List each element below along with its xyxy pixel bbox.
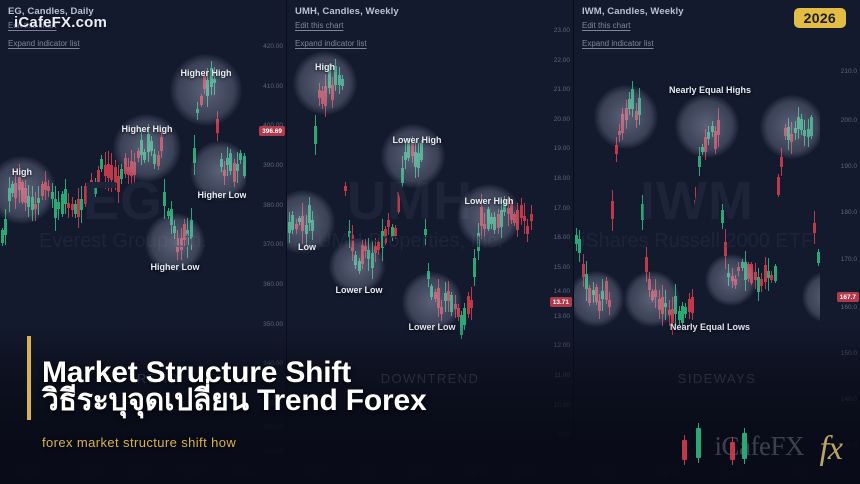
price-tick: 16.00 [554, 234, 570, 241]
candle [774, 264, 777, 284]
price-tick: 21.00 [554, 86, 570, 93]
candle [611, 190, 614, 231]
time-tick: 13, Nov [232, 470, 254, 477]
logo-candle-red [682, 440, 687, 460]
logo-fx-mark: fx [819, 430, 842, 468]
screenshot-root: EG, Candles, Daily Edit this chart Expan… [0, 0, 860, 484]
plot-area[interactable]: IWM iShares Russell 2000 ETF Nearly Equa… [574, 0, 820, 466]
time-tick: Mar '25 [466, 470, 487, 477]
price-tick: 410.00 [263, 83, 283, 90]
watermark-name: iShares Russell 2000 ETF [581, 230, 813, 253]
expand-indicator-list-link[interactable]: Expand indicator list [295, 39, 367, 48]
price-tick: 350.00 [263, 321, 283, 328]
price-tick: 160.0 [841, 304, 857, 311]
time-tick: Apr '23 [592, 470, 612, 477]
candle [691, 289, 694, 320]
swing-point-label: Lower Low [409, 322, 456, 332]
title-keyword: forex market structure shift how [42, 435, 236, 450]
swing-point-label: Lower Low [336, 285, 383, 295]
swing-point-label: Lower High [393, 135, 442, 145]
current-price-tag: 167.7 [837, 292, 859, 302]
time-tick: 24, Jul [18, 470, 37, 477]
year-badge: 2026 [794, 8, 846, 28]
swing-point-label: Lower High [465, 196, 514, 206]
swing-point-label: Higher High [181, 68, 232, 78]
edit-chart-link[interactable]: Edit this chart [295, 21, 343, 30]
panel-header-title: UMH, Candles, Weekly [295, 6, 399, 17]
price-tick: 23.00 [554, 27, 570, 34]
candle [470, 287, 473, 320]
candle [424, 219, 427, 245]
price-tick: 13.00 [554, 313, 570, 320]
structure-group-label: Nearly Equal Highs [669, 85, 751, 95]
swing-point-marker [624, 271, 680, 327]
price-tick: 18.00 [554, 175, 570, 182]
swing-point-marker [170, 54, 242, 126]
price-tick: 12.00 [554, 342, 570, 349]
panel-header-title: IWM, Candles, Weekly [582, 6, 684, 17]
price-tick: 180.0 [841, 209, 857, 216]
swing-point-label: Higher Low [198, 190, 247, 200]
price-tick: 15.00 [554, 264, 570, 271]
price-tick: 19.00 [554, 145, 570, 152]
time-tick: 27, Aug [81, 470, 103, 477]
time-tick: 18, Sep [131, 470, 153, 477]
site-watermark: iCafeFX.com [14, 14, 107, 31]
icafefx-logo[interactable]: iCafeFX fx [676, 422, 846, 474]
swing-point-marker [381, 124, 445, 188]
price-tick: 390.00 [263, 162, 283, 169]
price-tick: 22.00 [554, 57, 570, 64]
edit-chart-link[interactable]: Edit this chart [582, 21, 630, 30]
price-tick: 170.0 [841, 256, 857, 263]
swing-point-marker [675, 94, 739, 158]
price-tick: 20.00 [554, 116, 570, 123]
price-tick: 9.00 [557, 431, 570, 438]
candle [344, 182, 347, 196]
title-line-2: วิธีระบุจุดเปลี่ยน Trend Forex [42, 377, 427, 424]
swing-point-marker [293, 51, 357, 115]
swing-point-marker [594, 85, 658, 149]
swing-point-label: High [12, 167, 32, 177]
swing-point-label: Higher High [122, 124, 173, 134]
price-tick: 200.0 [841, 117, 857, 124]
swing-point-marker [760, 95, 820, 159]
price-tick: 11.00 [554, 372, 570, 379]
time-tick: 15, Oct [182, 470, 203, 477]
candle [777, 174, 780, 197]
price-axis[interactable]: 210.0200.0190.0180.0170.0160.0150.0140.0… [820, 0, 860, 466]
trend-label: SIDEWAYS [678, 371, 756, 386]
swing-point-marker [802, 271, 820, 323]
time-tick: Jan '24 [412, 470, 433, 477]
price-tick: 420.00 [263, 43, 283, 50]
time-tick: Jan '25 [515, 470, 536, 477]
swing-point-label: High [315, 62, 335, 72]
price-tick: 210.0 [841, 68, 857, 75]
swing-point-marker [457, 184, 521, 248]
current-price-tag: 13.71 [550, 297, 572, 307]
candle [641, 195, 644, 230]
price-tick: 17.00 [554, 205, 570, 212]
swing-point-label: Higher Low [151, 262, 200, 272]
price-tick: 190.0 [841, 163, 857, 170]
current-price-tag: 396.69 [259, 126, 285, 136]
candle [314, 115, 317, 155]
swing-point-label: Low [298, 242, 316, 252]
price-axis[interactable]: 23.0022.0021.0020.0019.0018.0017.0016.00… [533, 0, 573, 466]
time-tick: Jan '23 [302, 470, 323, 477]
logo-candle-red-2 [730, 442, 735, 460]
title-accent-bar [27, 336, 31, 420]
swing-point-marker [705, 254, 757, 306]
expand-indicator-list-link[interactable]: Expand indicator list [8, 39, 80, 48]
candle [813, 211, 816, 244]
time-axis[interactable]: Jan '23JulJan '24Mar '25Jan '25 [287, 465, 533, 484]
time-tick: Jul [363, 470, 371, 477]
price-tick: 320.00 [263, 424, 283, 431]
logo-candle-green [696, 428, 701, 458]
logo-wordmark: iCafeFX [715, 431, 804, 462]
swing-point-marker [574, 271, 624, 327]
expand-indicator-list-link[interactable]: Expand indicator list [582, 39, 654, 48]
chart-panel-iwm[interactable]: IWM, Candles, Weekly Edit this chart Exp… [574, 0, 860, 484]
price-tick: 140.0 [841, 396, 857, 403]
candle [721, 204, 724, 229]
structure-group-label: Nearly Equal Lows [670, 322, 750, 332]
price-tick: 360.00 [263, 281, 283, 288]
price-tick: 370.00 [263, 241, 283, 248]
price-tick: 310.00 [263, 448, 283, 455]
price-tick: 380.00 [263, 202, 283, 209]
time-axis[interactable]: 24, Jul27, Aug18, Sep15, Oct13, Nov [0, 465, 246, 484]
price-tick: 150.0 [841, 350, 857, 357]
price-tick: 14.00 [554, 288, 570, 295]
candle [394, 225, 397, 239]
price-tick: 10.00 [554, 402, 570, 409]
logo-candle-green-2 [742, 433, 747, 459]
candle [694, 187, 697, 219]
